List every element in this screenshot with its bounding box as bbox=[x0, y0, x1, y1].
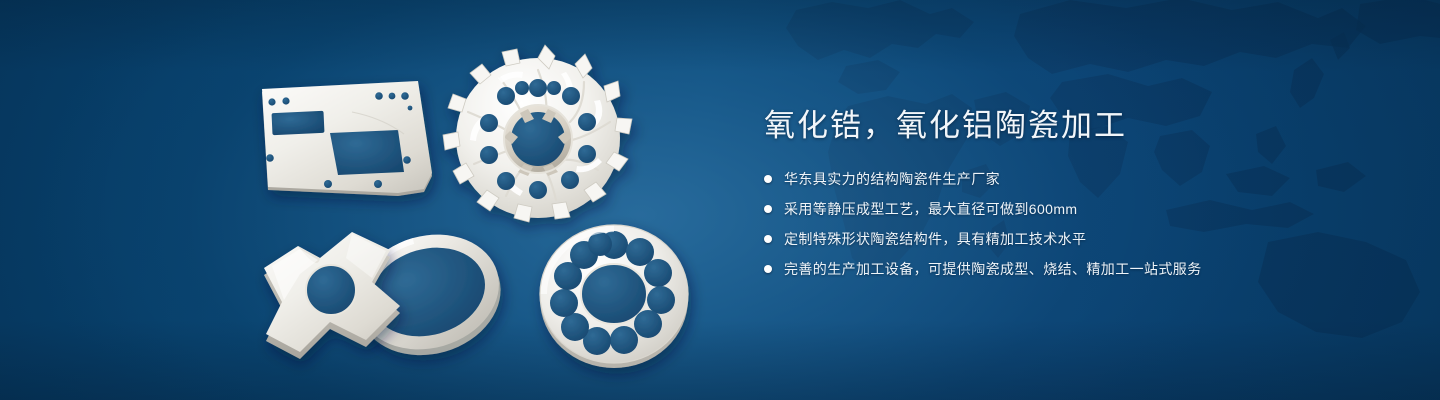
ceramic-impeller-wheel bbox=[443, 45, 632, 222]
feature-text: 完善的生产加工设备，可提供陶瓷成型、烧结、精加工一站式服务 bbox=[784, 258, 1202, 280]
list-item: 华东具实力的结构陶瓷件生产厂家 bbox=[764, 168, 1364, 190]
list-item: 定制特殊形状陶瓷结构件，具有精加工技术水平 bbox=[764, 228, 1364, 250]
banner-copy: 氧化锆，氧化铝陶瓷加工 华东具实力的结构陶瓷件生产厂家 采用等静压成型工艺，最大… bbox=[764, 106, 1364, 288]
feature-text: 采用等静压成型工艺，最大直径可做到600mm bbox=[784, 198, 1077, 220]
ceramic-mounting-plate bbox=[262, 81, 432, 196]
ceramic-products-banner: 氧化锆，氧化铝陶瓷加工 华东具实力的结构陶瓷件生产厂家 采用等静压成型工艺，最大… bbox=[0, 0, 1440, 400]
ceramic-products-image bbox=[0, 0, 740, 400]
bullet-dot-icon bbox=[764, 265, 772, 273]
feature-list: 华东具实力的结构陶瓷件生产厂家 采用等静压成型工艺，最大直径可做到600mm 定… bbox=[764, 168, 1364, 280]
list-item: 采用等静压成型工艺，最大直径可做到600mm bbox=[764, 198, 1364, 220]
feature-text: 华东具实力的结构陶瓷件生产厂家 bbox=[784, 168, 1000, 190]
bullet-dot-icon bbox=[764, 235, 772, 243]
list-item: 完善的生产加工设备，可提供陶瓷成型、烧结、精加工一站式服务 bbox=[764, 258, 1364, 280]
bullet-dot-icon bbox=[764, 175, 772, 183]
bullet-dot-icon bbox=[764, 205, 772, 213]
ceramic-perforated-disc bbox=[540, 225, 688, 368]
feature-text: 定制特殊形状陶瓷结构件，具有精加工技术水平 bbox=[784, 228, 1086, 250]
banner-headline: 氧化锆，氧化铝陶瓷加工 bbox=[764, 106, 1364, 146]
